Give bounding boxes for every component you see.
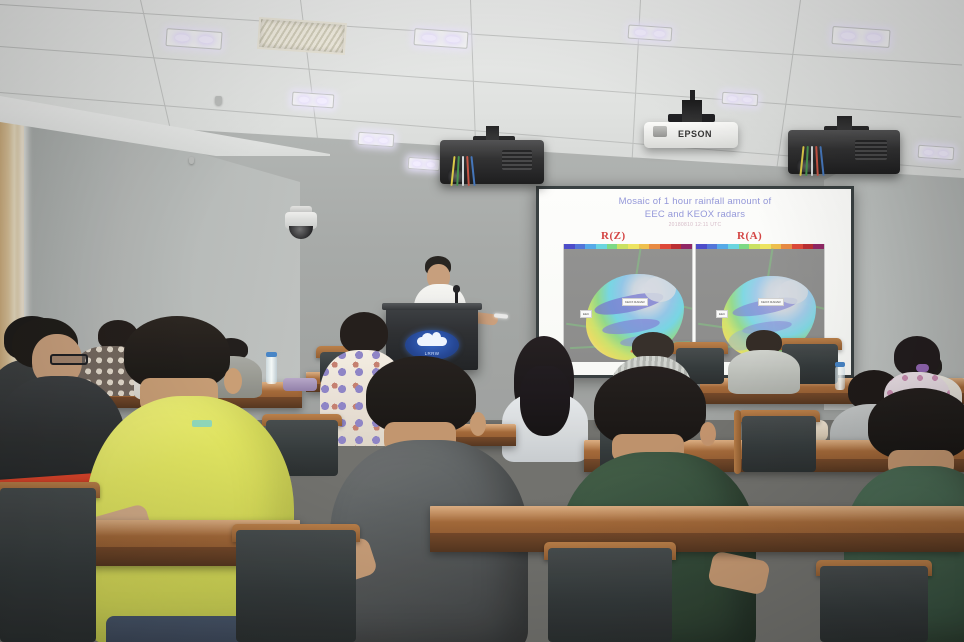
podium-top-surface <box>382 303 482 310</box>
cloud-icon <box>417 337 447 346</box>
hvac-air-diffuser <box>257 17 347 55</box>
map-tag-eec: EEC <box>580 310 592 318</box>
left-dark-projector <box>440 126 544 188</box>
ceiling-downlight <box>628 24 673 41</box>
desk-row-front-right <box>430 506 964 552</box>
hair-tie <box>916 364 929 372</box>
panel-label-ra: R(A) <box>737 230 762 242</box>
map-tag-keox: KEOX RADAR <box>758 298 784 306</box>
center-epson-projector: EPSON <box>644 100 738 150</box>
epson-brand-label: EPSON <box>678 129 712 139</box>
slide-subtitle: 20180810 12:11 UTC <box>539 222 851 228</box>
ceiling-downlight <box>292 92 335 109</box>
chair-front-center-left <box>236 530 356 642</box>
fire-sprinkler <box>215 96 222 105</box>
slide-title: Mosaic of 1 hour rainfall amount of EEC … <box>539 196 851 221</box>
ceiling-downlight <box>918 145 955 160</box>
dome-security-camera <box>284 206 318 240</box>
ear <box>470 412 486 436</box>
jeans <box>106 616 256 642</box>
projector-cables <box>797 146 842 176</box>
right-dark-projector <box>788 116 900 180</box>
shirt-logo <box>192 420 212 427</box>
projector-cables <box>448 156 490 186</box>
map-tag-eec: EEC <box>716 310 728 318</box>
ceiling-downlight <box>408 157 441 171</box>
chair-front-center-right <box>548 548 672 642</box>
man-grey-tshirt <box>330 356 536 642</box>
ear <box>224 368 242 394</box>
panel-label-rz: R(Z) <box>601 230 626 242</box>
chair-front-right <box>820 566 928 642</box>
chair-front-left <box>0 488 96 642</box>
ceiling-downlight <box>358 132 395 147</box>
hair <box>340 312 388 354</box>
ceiling-downlight <box>165 28 222 50</box>
ear <box>700 422 716 446</box>
conference-room-photo: Mosaic of 1 hour rainfall amount of EEC … <box>0 0 964 642</box>
map-tag-keox: KEOX RADAR <box>622 298 648 306</box>
fire-sprinkler <box>189 157 194 164</box>
